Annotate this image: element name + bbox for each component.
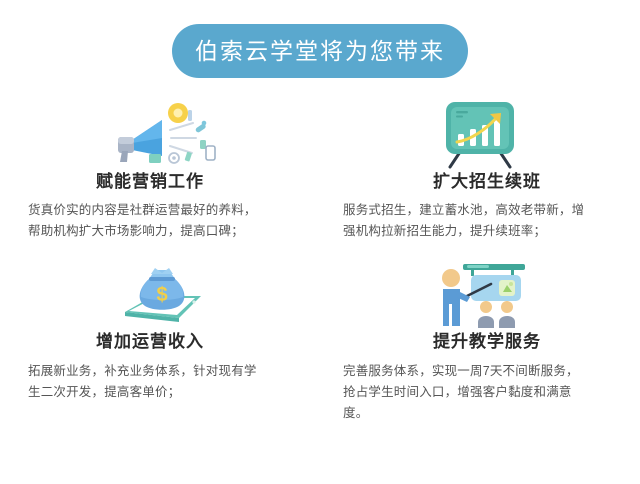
header-banner: 伯索云学堂将为您带来 [172, 24, 468, 78]
feature-title: 提升教学服务 [320, 332, 640, 352]
feature-body: 拓展新业务，补充业务体系，针对现有学生二次开发，提高客单价； [28, 361, 260, 403]
feature-title: 赋能营销工作 [0, 172, 320, 192]
money-bag-phone-icon: $ [0, 256, 320, 330]
presentation-chart-icon [320, 96, 640, 170]
feature-body: 完善服务体系，实现一周7天不间断服务，抢占学生时间入口，增强客户黏度和满意度。 [343, 361, 587, 424]
feature-card-enrollment: 扩大招生续班 服务式招生，建立蓄水池，高效老带新，增强机构拉新招生能力，提升续班… [320, 96, 640, 242]
feature-card-marketing: 赋能营销工作 货真价实的内容是社群运营最好的养料，帮助机构扩大市场影响力，提高口… [0, 96, 320, 242]
feature-card-teaching: 提升教学服务 完善服务体系，实现一周7天不间断服务，抢占学生时间入口，增强客户黏… [320, 256, 640, 423]
feature-title: 增加运营收入 [0, 332, 320, 352]
features-row-1: 赋能营销工作 货真价实的内容是社群运营最好的养料，帮助机构扩大市场影响力，提高口… [0, 96, 640, 242]
feature-title: 扩大招生续班 [320, 172, 640, 192]
feature-card-revenue: $ 增加运营收入 拓展新业务，补充业务体系，针对现有学生二次开发，提高客单价； [0, 256, 320, 423]
header-banner-container: 伯索云学堂将为您带来 [0, 24, 640, 78]
feature-body: 货真价实的内容是社群运营最好的养料，帮助机构扩大市场影响力，提高口碑； [28, 200, 260, 242]
feature-body: 服务式招生，建立蓄水池，高效老带新，增强机构拉新招生能力，提升续班率； [343, 200, 587, 242]
svg-text:$: $ [156, 284, 167, 306]
features-row-2: $ 增加运营收入 拓展新业务，补充业务体系，针对现有学生二次开发，提高客单价； [0, 256, 640, 423]
header-banner-text: 伯索云学堂将为您带来 [195, 40, 445, 63]
teacher-classroom-icon [320, 256, 640, 330]
megaphone-icon [0, 96, 320, 170]
features-grid: 赋能营销工作 货真价实的内容是社群运营最好的养料，帮助机构扩大市场影响力，提高口… [0, 96, 640, 424]
